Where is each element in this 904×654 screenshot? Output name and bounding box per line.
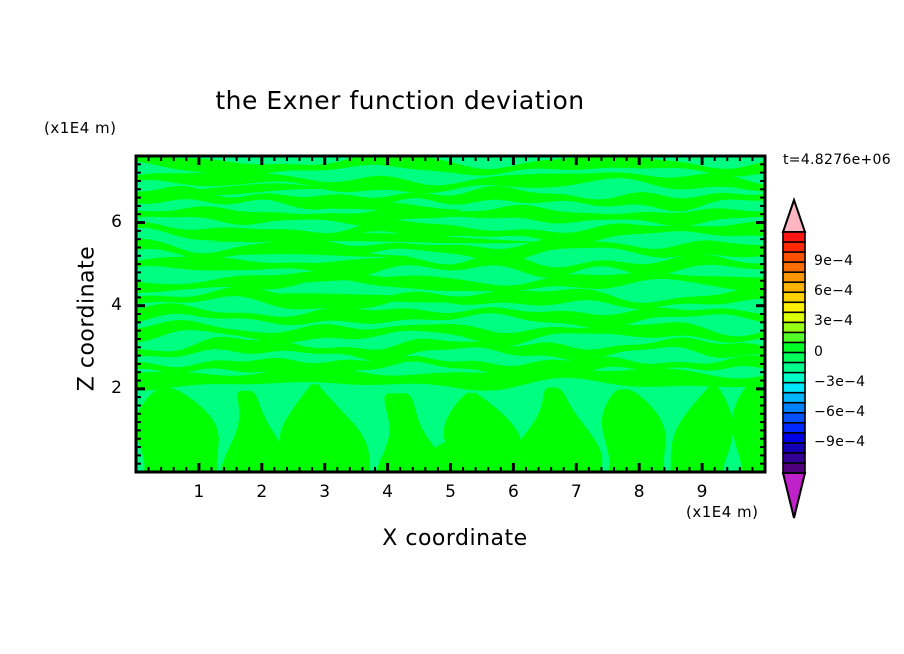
colorbar-tick-label: −9e−4	[814, 434, 865, 450]
colorbar-segment	[783, 393, 805, 403]
colorbar-segment	[783, 373, 805, 383]
colorbar-tick-label: −3e−4	[814, 374, 865, 390]
x-tick-label: 3	[305, 482, 345, 502]
colorbar-tick-label: 6e−4	[814, 283, 853, 299]
colorbar-segment	[783, 272, 805, 282]
colorbar-segment	[783, 252, 805, 262]
x-tick-label: 7	[556, 482, 596, 502]
colorbar-segment	[783, 242, 805, 252]
colorbar-tick-label: −6e−4	[814, 404, 865, 420]
colorbar-segment	[783, 312, 805, 322]
y-tick-label: 6	[88, 212, 122, 232]
colorbar-over-arrow	[783, 200, 805, 232]
colorbar-segment	[783, 342, 805, 352]
y-tick-label: 2	[88, 378, 122, 398]
colorbar-segment	[783, 332, 805, 342]
contour-plot-figure: the Exner function deviation (x1E4 m) (x…	[0, 0, 904, 654]
colorbar-segment	[783, 463, 805, 473]
contour-field-canvas	[0, 0, 904, 654]
colorbar-segment	[783, 322, 805, 332]
x-tick-label: 5	[431, 482, 471, 502]
x-tick-label: 9	[682, 482, 722, 502]
colorbar-under-arrow	[783, 473, 805, 518]
x-tick-label: 2	[242, 482, 282, 502]
x-tick-label: 8	[619, 482, 659, 502]
colorbar-tick-label: 0	[814, 344, 823, 360]
colorbar-segment	[783, 413, 805, 423]
colorbar-segment	[783, 353, 805, 363]
colorbar-segment	[783, 383, 805, 393]
y-tick-label: 4	[88, 295, 122, 315]
colorbar-segment	[783, 262, 805, 272]
colorbar-segment	[783, 282, 805, 292]
colorbar-segment	[783, 443, 805, 453]
colorbar-segment	[783, 232, 805, 242]
x-tick-label: 6	[493, 482, 533, 502]
colorbar-tick-label: 9e−4	[814, 253, 853, 269]
colorbar-tick-label: 3e−4	[814, 313, 853, 329]
colorbar-segment	[783, 453, 805, 463]
colorbar-segment	[783, 433, 805, 443]
colorbar	[783, 200, 805, 518]
x-tick-label: 1	[179, 482, 219, 502]
colorbar-segment	[783, 423, 805, 433]
colorbar-segment	[783, 292, 805, 302]
colorbar-segment	[783, 363, 805, 373]
colorbar-segment	[783, 302, 805, 312]
x-tick-label: 4	[368, 482, 408, 502]
colorbar-segment	[783, 403, 805, 413]
